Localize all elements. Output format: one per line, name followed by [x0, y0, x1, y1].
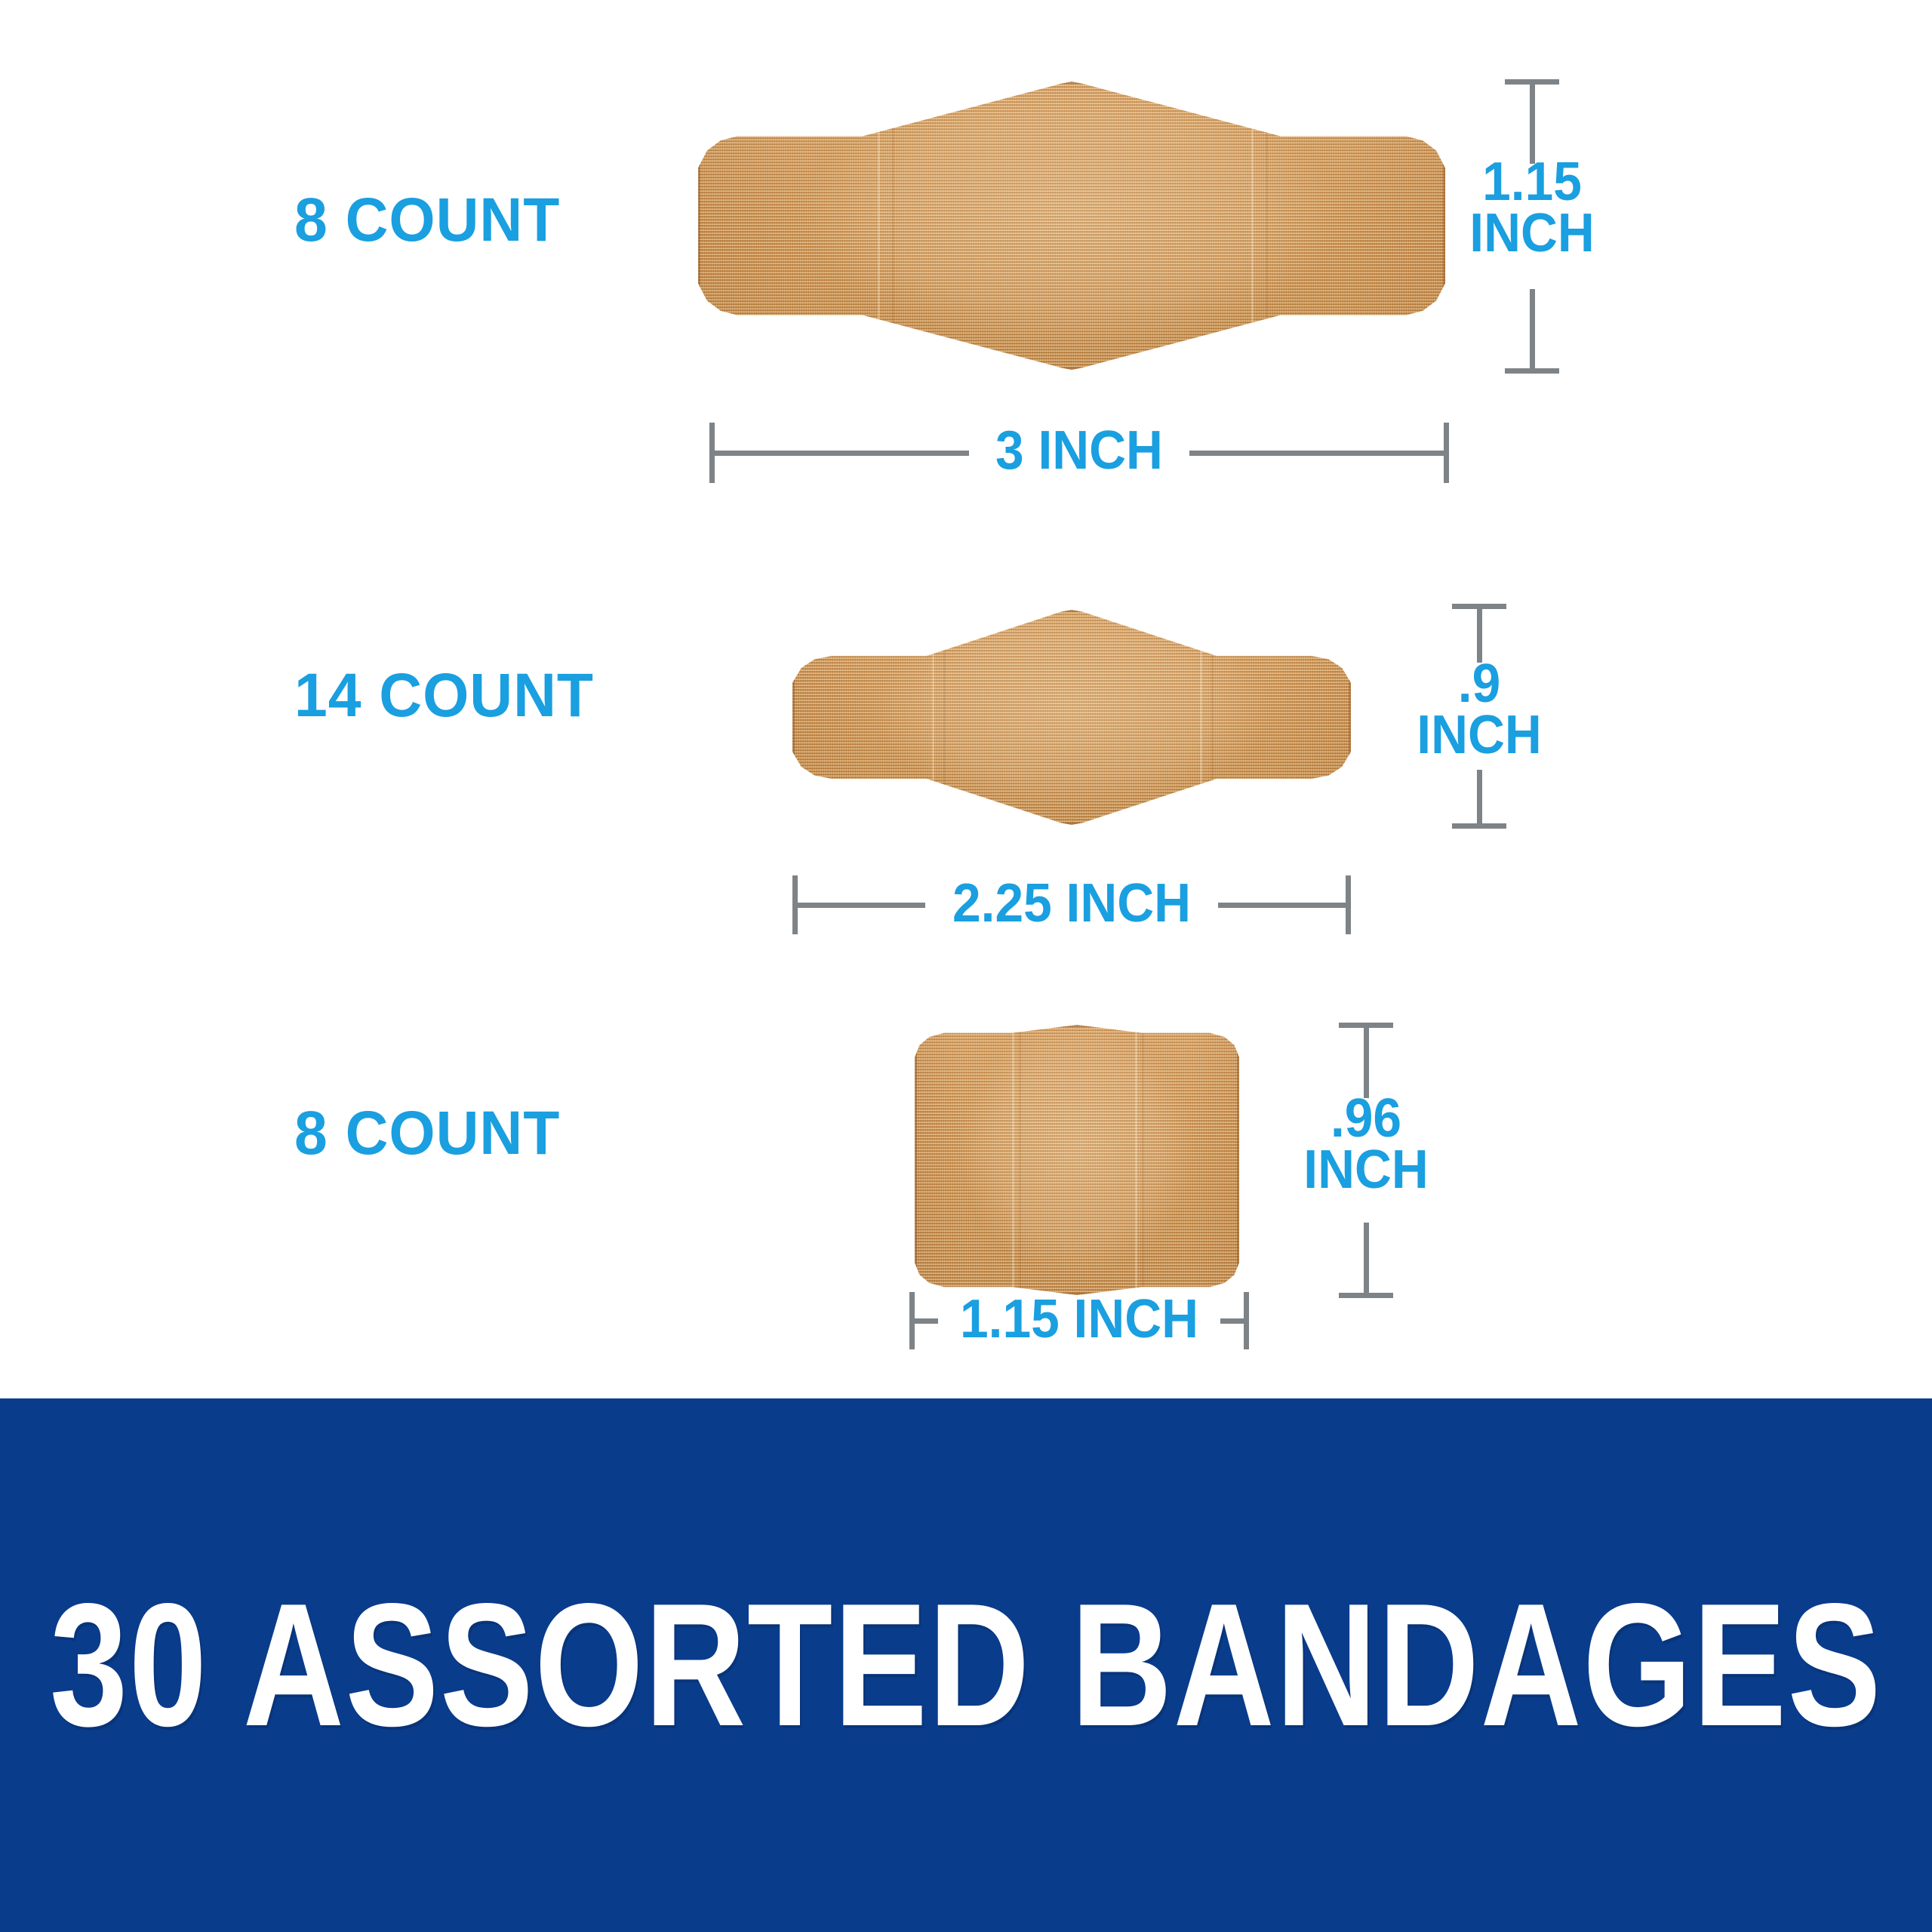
bandage-edge: [792, 610, 1351, 825]
dim-value: .9: [1387, 658, 1571, 709]
dim-stem-bottom: [1477, 770, 1482, 829]
dim-bar-left: [795, 903, 925, 908]
dim-value: .96: [1274, 1093, 1458, 1144]
dim-bar-right: [1220, 1318, 1246, 1324]
dim-cap-bottom: [1452, 823, 1506, 829]
dim-value: 1.15: [1440, 156, 1624, 208]
dim-cap-right: [1346, 875, 1351, 934]
dim-bar-right: [1218, 903, 1348, 908]
count-label-row2: 14 COUNT: [294, 660, 594, 731]
bandage-large: [698, 82, 1445, 370]
bandage-edge: [698, 82, 1445, 370]
dim-cap-right: [1244, 1292, 1249, 1349]
bandage-small: [915, 1025, 1239, 1295]
dim-cap-bottom: [1505, 368, 1559, 374]
dim-unit: INCH: [1440, 208, 1624, 259]
dim-width-text: 2.25 INCH: [952, 873, 1191, 934]
dim-unit: INCH: [1274, 1144, 1458, 1195]
dim-cap-right: [1444, 423, 1449, 483]
infographic-canvas: 8 COUNT 1.15 INCH 3 INCH 14 COUNT: [0, 0, 1932, 1932]
dim-width-text: 3 INCH: [995, 420, 1163, 481]
count-label-row1: 8 COUNT: [294, 185, 560, 256]
dimension-height-label-row2: .9 INCH: [1387, 658, 1571, 761]
count-label-row3: 8 COUNT: [294, 1098, 560, 1169]
dim-stem-top: [1364, 1023, 1369, 1098]
dim-width-text: 1.15 INCH: [960, 1289, 1198, 1349]
bandage-medium: [792, 610, 1351, 825]
dimension-width-label-row2: 2.25 INCH: [909, 877, 1235, 931]
dim-cap-bottom: [1339, 1293, 1393, 1298]
dim-unit: INCH: [1387, 709, 1571, 761]
dim-stem-bottom: [1364, 1223, 1369, 1298]
dim-stem-bottom: [1530, 289, 1535, 374]
dim-bar-left: [912, 1318, 938, 1324]
dimension-height-label-row1: 1.15 INCH: [1440, 156, 1624, 260]
banner-title: 30 ASSORTED BANDAGES: [193, 1398, 1739, 1932]
bottom-banner: 30 ASSORTED BANDAGES: [0, 1398, 1932, 1932]
dimension-height-label-row3: .96 INCH: [1274, 1093, 1458, 1196]
dimension-width-label-row1: 3 INCH: [902, 424, 1257, 478]
bandage-edge: [915, 1025, 1239, 1295]
dimension-width-label-row3: 1.15 INCH: [941, 1293, 1218, 1346]
